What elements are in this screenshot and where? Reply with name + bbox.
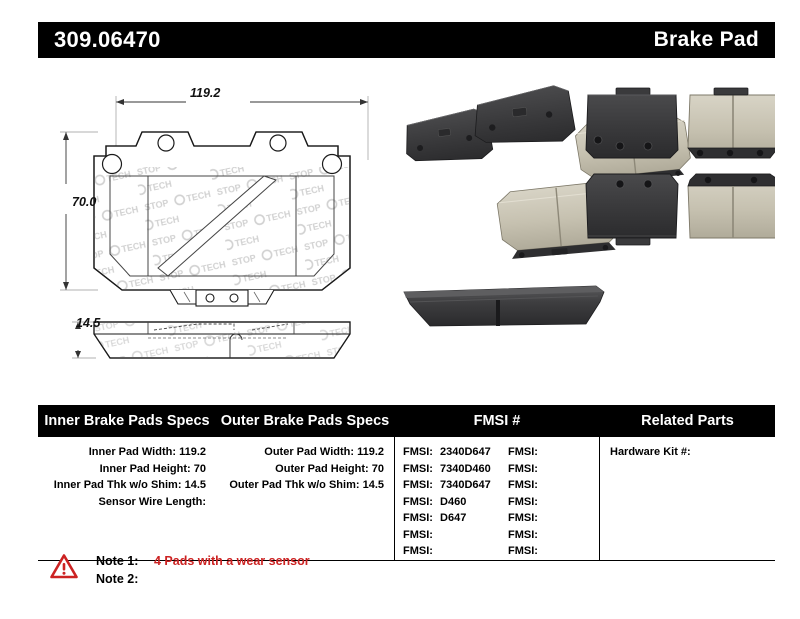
spec-row: Sensor Wire Length:: [38, 494, 216, 511]
spec-value: 14.5: [185, 479, 206, 491]
fmsi-cell-left: FMSI: 7340D647: [403, 477, 508, 494]
spec-value: 70: [194, 463, 206, 475]
product-photo-group: [392, 72, 775, 372]
note-1-label: Note 1:: [96, 552, 148, 570]
fmsi-value: [538, 446, 542, 458]
fmsi-cell-right: FMSI:: [508, 527, 542, 544]
warning-triangle-icon: [50, 554, 78, 579]
fmsi-cell-right: FMSI:: [508, 444, 542, 461]
note-row-1: Note 1: 4 Pads with a wear sensor: [96, 552, 310, 570]
fmsi-label: FMSI:: [508, 446, 538, 458]
fmsi-label: FMSI:: [508, 463, 538, 475]
fmsi-value: [433, 529, 437, 541]
fmsi-label: FMSI:: [508, 529, 538, 541]
fmsi-row: FMSI: D460 FMSI:: [403, 494, 599, 511]
dimension-label-height: 70.0: [72, 195, 96, 209]
fmsi-row: FMSI: D647 FMSI:: [403, 510, 599, 527]
fmsi-row: FMSI: FMSI:: [403, 543, 599, 560]
fmsi-cell-left: FMSI:: [403, 527, 508, 544]
pad-edge-view: [88, 320, 358, 362]
fmsi-label: FMSI:: [403, 512, 433, 524]
fmsi-value: 2340D647: [436, 446, 491, 458]
fmsi-cell-left: FMSI: D647: [403, 510, 508, 527]
pad-face-view: [88, 132, 358, 306]
inner-specs-header: Inner Brake Pads Specs: [38, 406, 216, 437]
fmsi-body: FMSI: 2340D647 FMSI: FMSI: 7340D460 FMSI…: [395, 437, 599, 560]
column-related-parts: Related Parts Hardware Kit #:: [599, 406, 775, 560]
fmsi-cell-left: FMSI:: [403, 543, 508, 560]
fmsi-value: 7340D647: [436, 479, 491, 491]
note-1-value: 4 Pads with a wear sensor: [148, 552, 310, 570]
spec-value: 119.2: [357, 446, 384, 458]
fmsi-cell-right: FMSI:: [508, 494, 542, 511]
fmsi-value: [538, 496, 542, 508]
spec-label: Inner Pad Thk w/o Shim:: [54, 479, 182, 491]
fmsi-label: FMSI:: [508, 496, 538, 508]
fmsi-value: D460: [436, 496, 466, 508]
fmsi-label: FMSI:: [403, 446, 433, 458]
spec-value: 70: [372, 463, 384, 475]
fmsi-cell-right: FMSI:: [508, 461, 542, 478]
column-fmsi: FMSI # FMSI: 2340D647 FMSI: FMSI: 7340D4…: [394, 406, 599, 560]
spec-row: Outer Pad Height: 70: [216, 461, 394, 478]
related-parts-body: Hardware Kit #:: [600, 437, 775, 461]
fmsi-cell-right: FMSI:: [508, 543, 542, 560]
related-row: Hardware Kit #:: [610, 444, 775, 461]
fmsi-label: FMSI:: [508, 479, 538, 491]
spec-row: Inner Pad Height: 70: [38, 461, 216, 478]
spec-label: Outer Pad Thk w/o Shim:: [229, 479, 359, 491]
spec-row: Inner Pad Width: 119.2: [38, 444, 216, 461]
header-bar: 309.06470 Brake Pad: [38, 22, 775, 58]
spec-label: Inner Pad Height:: [100, 463, 191, 475]
spec-label: Inner Pad Width:: [89, 446, 176, 458]
product-photos: [392, 72, 775, 372]
fmsi-label: FMSI:: [403, 545, 433, 557]
fmsi-row: FMSI: 2340D647 FMSI:: [403, 444, 599, 461]
fmsi-value: [538, 545, 542, 557]
fmsi-row: FMSI: 7340D460 FMSI:: [403, 461, 599, 478]
related-parts-header: Related Parts: [600, 406, 775, 437]
fmsi-value: [538, 512, 542, 524]
spec-value: 119.2: [179, 446, 206, 458]
fmsi-cell-left: FMSI: 7340D460: [403, 461, 508, 478]
fmsi-cell-left: FMSI: 2340D647: [403, 444, 508, 461]
page-title: Brake Pad: [654, 28, 759, 52]
note-2-label: Note 2:: [96, 570, 148, 588]
note-row-2: Note 2:: [96, 570, 310, 588]
notes-text: Note 1: 4 Pads with a wear sensor Note 2…: [96, 552, 310, 588]
column-inner-specs: Inner Brake Pads Specs Inner Pad Width: …: [38, 406, 216, 560]
column-outer-specs: Outer Brake Pads Specs Outer Pad Width: …: [216, 406, 394, 560]
spec-row: Inner Pad Thk w/o Shim: 14.5: [38, 477, 216, 494]
outer-specs-header: Outer Brake Pads Specs: [216, 406, 394, 437]
fmsi-label: FMSI:: [403, 479, 433, 491]
photo-edge-view: [404, 286, 604, 326]
dimension-label-thickness: 14.5: [76, 316, 100, 330]
spec-label: Outer Pad Height:: [275, 463, 369, 475]
spec-table: Inner Brake Pads Specs Inner Pad Width: …: [38, 405, 775, 561]
fmsi-row: FMSI: 7340D647 FMSI:: [403, 477, 599, 494]
fmsi-value: D647: [436, 512, 466, 524]
fmsi-label: FMSI:: [403, 463, 433, 475]
fmsi-value: [538, 463, 542, 475]
fmsi-label: FMSI:: [508, 545, 538, 557]
fmsi-value: [433, 545, 437, 557]
fmsi-cell-right: FMSI:: [508, 477, 542, 494]
spec-row: Outer Pad Width: 119.2: [216, 444, 394, 461]
spec-value: 14.5: [363, 479, 384, 491]
dimension-label-width: 119.2: [190, 86, 220, 100]
dimension-line-height: [60, 132, 98, 290]
spec-row: Outer Pad Thk w/o Shim: 14.5: [216, 477, 394, 494]
fmsi-label: FMSI:: [403, 529, 433, 541]
fmsi-cell-right: FMSI:: [508, 510, 542, 527]
spec-label: Outer Pad Width:: [264, 446, 354, 458]
fmsi-cell-left: FMSI: D460: [403, 494, 508, 511]
inner-specs-body: Inner Pad Width: 119.2 Inner Pad Height:…: [38, 437, 216, 552]
part-number: 309.06470: [54, 27, 161, 53]
fmsi-value: [538, 529, 542, 541]
related-label: Hardware Kit #:: [610, 446, 691, 458]
fmsi-row: FMSI: FMSI:: [403, 527, 599, 544]
fmsi-value: [538, 479, 542, 491]
fmsi-label: FMSI:: [403, 496, 433, 508]
fmsi-header: FMSI #: [395, 406, 599, 437]
fmsi-label: FMSI:: [508, 512, 538, 524]
fmsi-value: 7340D460: [436, 463, 491, 475]
spec-label: Sensor Wire Length:: [99, 496, 206, 508]
outer-specs-body: Outer Pad Width: 119.2 Outer Pad Height:…: [216, 437, 394, 552]
